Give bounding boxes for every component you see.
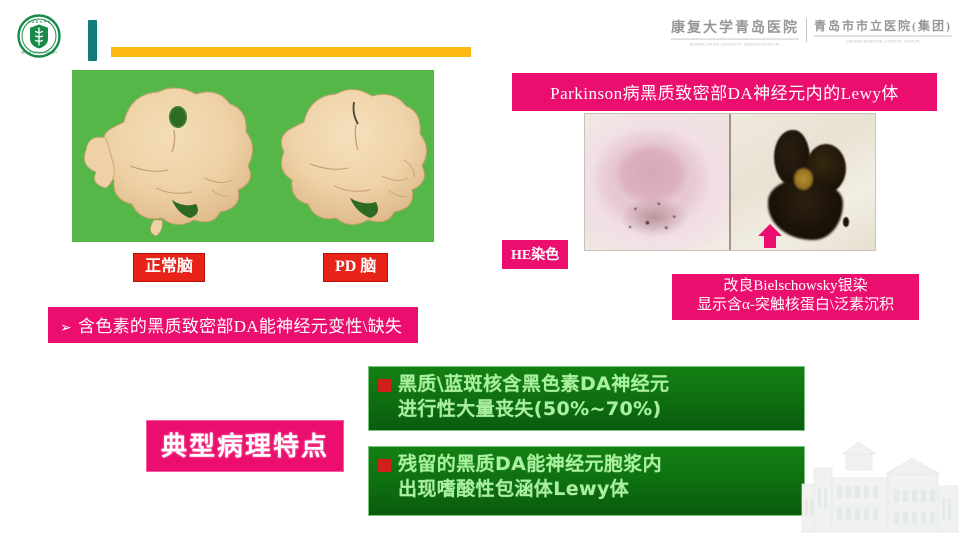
pathology-fact-text-1: 黑质\蓝斑核含黑色素DA神经元 进行性大量丧失(50%~70%) xyxy=(398,372,669,422)
silver-caption-line-1: 改良Bielschowsky银染 xyxy=(672,277,919,296)
histology-silver-panel xyxy=(731,114,875,250)
square-bullet-icon xyxy=(378,379,391,392)
pigment-speck xyxy=(843,217,849,227)
logo-divider xyxy=(806,18,807,42)
pathology-fact-box-2: 残留的黑质DA能神经元胞浆内 出现嗜酸性包涵体Lewy体 xyxy=(368,446,805,516)
left-bullet-banner: ➢含色素的黑质致密部DA能神经元变性\缺失 xyxy=(48,307,418,343)
hospital-logo: 康复大学青岛医院 REHABILITATION UNIVERSITY QINGD… xyxy=(671,17,952,46)
hospital-name-cn: 康复大学青岛医院 xyxy=(671,17,799,37)
square-bullet-icon xyxy=(378,459,391,472)
amber-accent-bar xyxy=(111,47,471,57)
slide-canvas: ★ 康 复 大 学 ★ REHABILITATION UNIVERSITY 康复… xyxy=(0,0,960,540)
university-seal-icon: ★ 康 复 大 学 ★ REHABILITATION UNIVERSITY xyxy=(17,14,61,58)
right-section-title: Parkinson病黑质致密部DA神经元内的Lewy体 xyxy=(512,73,937,111)
bullet-arrow-icon: ➢ xyxy=(60,321,72,336)
pd-brain-caption: PD 脑 xyxy=(323,253,388,282)
svg-text:REHABILITATION UNIVERSITY: REHABILITATION UNIVERSITY xyxy=(21,50,58,54)
hospital-group-name-cn: 青岛市市立医院(集团) xyxy=(814,17,952,34)
hospital-group-name-en: QINGDAO MUNICIPAL HOSPITAL (GROUP) xyxy=(814,36,952,43)
pathology-fact-text-2: 残留的黑质DA能神经元胞浆内 出现嗜酸性包涵体Lewy体 xyxy=(398,452,662,502)
section-title-badge: 典型病理特点 xyxy=(146,420,344,472)
gross-brain-photo xyxy=(72,70,434,242)
pathology-fact-box-1: 黑质\蓝斑核含黑色素DA神经元 进行性大量丧失(50%~70%) xyxy=(368,366,805,431)
he-stain-label: HE染色 xyxy=(502,240,568,269)
histology-image-pair xyxy=(584,113,876,251)
silver-stain-caption: 改良Bielschowsky银染 显示含α-突触核蛋白\泛素沉积 xyxy=(672,274,919,320)
histology-he-panel xyxy=(585,114,729,250)
left-bullet-text: 含色素的黑质致密部DA能神经元变性\缺失 xyxy=(78,317,402,336)
silver-caption-line-2: 显示含α-突触核蛋白\泛素沉积 xyxy=(672,296,919,315)
normal-brain-caption: 正常脑 xyxy=(133,253,205,282)
hospital-name-en: REHABILITATION UNIVERSITY QINGDAO HOSPIT… xyxy=(671,39,799,46)
svg-text:★ 康 复 大 学 ★: ★ 康 复 大 学 ★ xyxy=(28,18,51,23)
teal-accent-bar xyxy=(88,20,97,61)
hospital-building-watermark xyxy=(790,428,960,540)
